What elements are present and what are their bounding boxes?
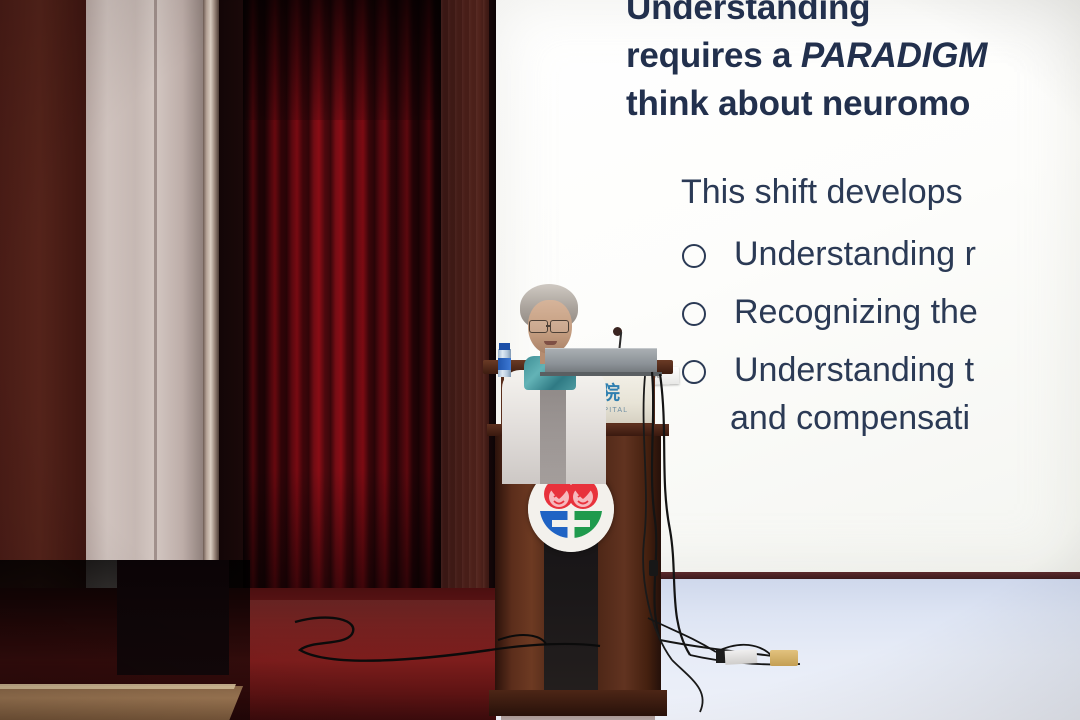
slide-title-emphasis: PARADIGM	[801, 36, 987, 75]
list-item: Recognizing the	[682, 288, 1080, 336]
podium-base	[489, 690, 667, 716]
slide-title-text-1: Understanding	[626, 0, 870, 27]
curtain-top-shadow	[243, 0, 443, 120]
list-item: Understanding t	[682, 346, 1080, 394]
laptop	[545, 348, 657, 375]
slide-title-text-3: think about neuromo	[626, 84, 970, 123]
slide-title-text-2-pre: requires a	[626, 36, 801, 75]
speaker-mouth	[544, 341, 557, 345]
stage-ramp-edge	[0, 684, 236, 689]
water-bottle-label	[498, 358, 511, 370]
bullet-circle-icon	[682, 302, 706, 326]
white-power-adapter	[725, 649, 758, 665]
speaker-person	[496, 284, 616, 484]
bullet-text: Understanding r	[734, 230, 976, 278]
glasses-right-lens-icon	[550, 320, 569, 333]
water-bottle-cap	[499, 343, 510, 350]
speaker-jacket-shadow	[540, 376, 566, 484]
stage-ramp	[0, 686, 243, 720]
glasses-left-lens-icon	[529, 320, 548, 333]
power-adapter	[770, 650, 798, 666]
bullet-continuation-text: and compensati	[682, 394, 1080, 442]
slide-title-line-2: requires a PARADIGM	[496, 32, 1080, 80]
bullet-circle-icon	[682, 360, 706, 384]
podium-floor-reflection	[501, 716, 655, 720]
list-item: Understanding r	[682, 230, 1080, 278]
bullet-text: Understanding t	[734, 346, 974, 394]
presentation-photo-scene: Understanding requires a PARADIGM think …	[0, 0, 1080, 720]
slide-title-line-3: think about neuromo	[496, 80, 1080, 128]
slide-lead-line: This shift develops	[496, 172, 1080, 212]
laptop-base	[540, 372, 662, 376]
slide-title-line-1: Understanding	[496, 0, 1080, 32]
speaker-cabinet	[117, 560, 229, 675]
floor-sheen	[250, 600, 500, 660]
bullet-circle-icon	[682, 244, 706, 268]
bullet-text: Recognizing the	[734, 288, 978, 336]
glasses-bridge-icon	[546, 325, 551, 327]
